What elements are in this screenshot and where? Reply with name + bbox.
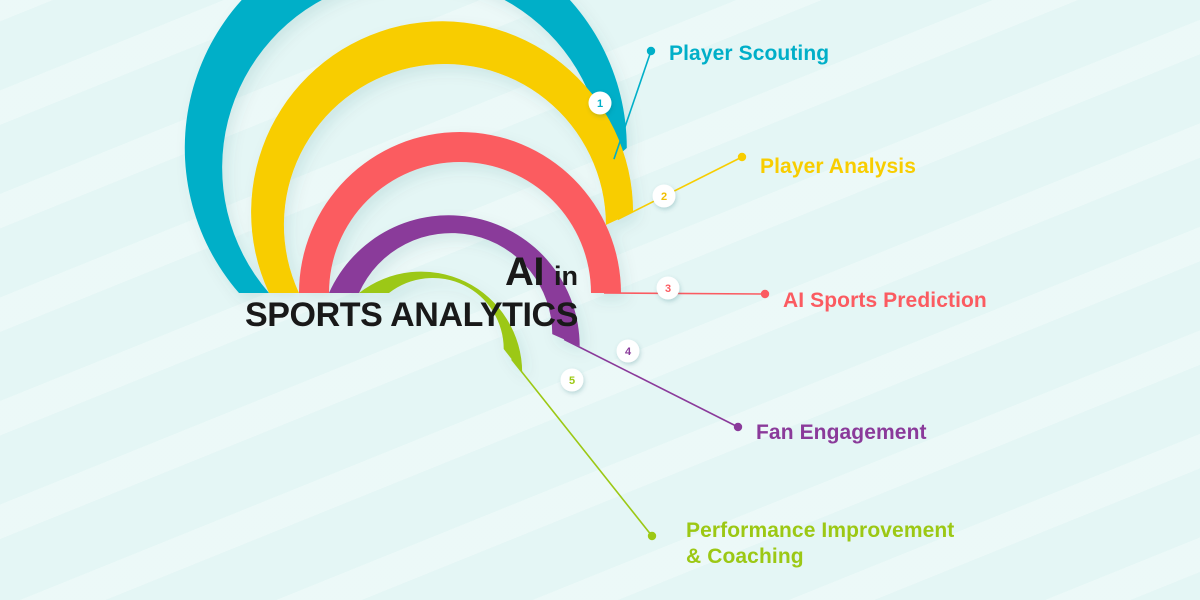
leader-line-4: [564, 339, 738, 427]
segment-badge-2[interactable]: 2: [653, 185, 676, 208]
segment-badge-3[interactable]: 3: [657, 277, 680, 300]
infographic-canvas: 12345 AIin SPORTS ANALYTICS Player Scout…: [0, 0, 1200, 600]
segment-badge-1[interactable]: 1: [589, 92, 612, 115]
center-title-line2: SPORTS ANALYTICS: [228, 298, 578, 332]
leader-line-3: [604, 293, 765, 294]
page-title: AIin SPORTS ANALYTICS: [228, 252, 578, 332]
leader-dot-2: [738, 153, 746, 161]
leader-dot-5: [648, 532, 656, 540]
segment-label-2[interactable]: Player Analysis: [760, 154, 916, 180]
center-title-line1: AIin: [228, 252, 578, 292]
segment-label-1[interactable]: Player Scouting: [669, 41, 829, 67]
center-title-ai: AI: [505, 250, 544, 294]
badge-number-3: 3: [665, 283, 671, 295]
segment-label-5[interactable]: Performance Improvement & Coaching: [686, 518, 954, 570]
leader-dot-1: [647, 47, 655, 55]
leader-dot-3: [761, 290, 769, 298]
segment-label-4[interactable]: Fan Engagement: [756, 420, 927, 446]
leader-line-2: [618, 157, 742, 219]
badge-number-5: 5: [569, 375, 575, 387]
segment-label-3[interactable]: AI Sports Prediction: [783, 288, 987, 314]
leader-dot-4: [734, 423, 742, 431]
rainbow-arc-diagram: 12345: [0, 0, 1200, 600]
badge-number-4: 4: [625, 346, 632, 358]
segment-badge-4[interactable]: 4: [617, 340, 640, 363]
badge-number-2: 2: [661, 191, 667, 203]
segment-badge-5[interactable]: 5: [561, 369, 584, 392]
badge-number-1: 1: [597, 98, 603, 110]
center-title-in: in: [554, 261, 578, 291]
